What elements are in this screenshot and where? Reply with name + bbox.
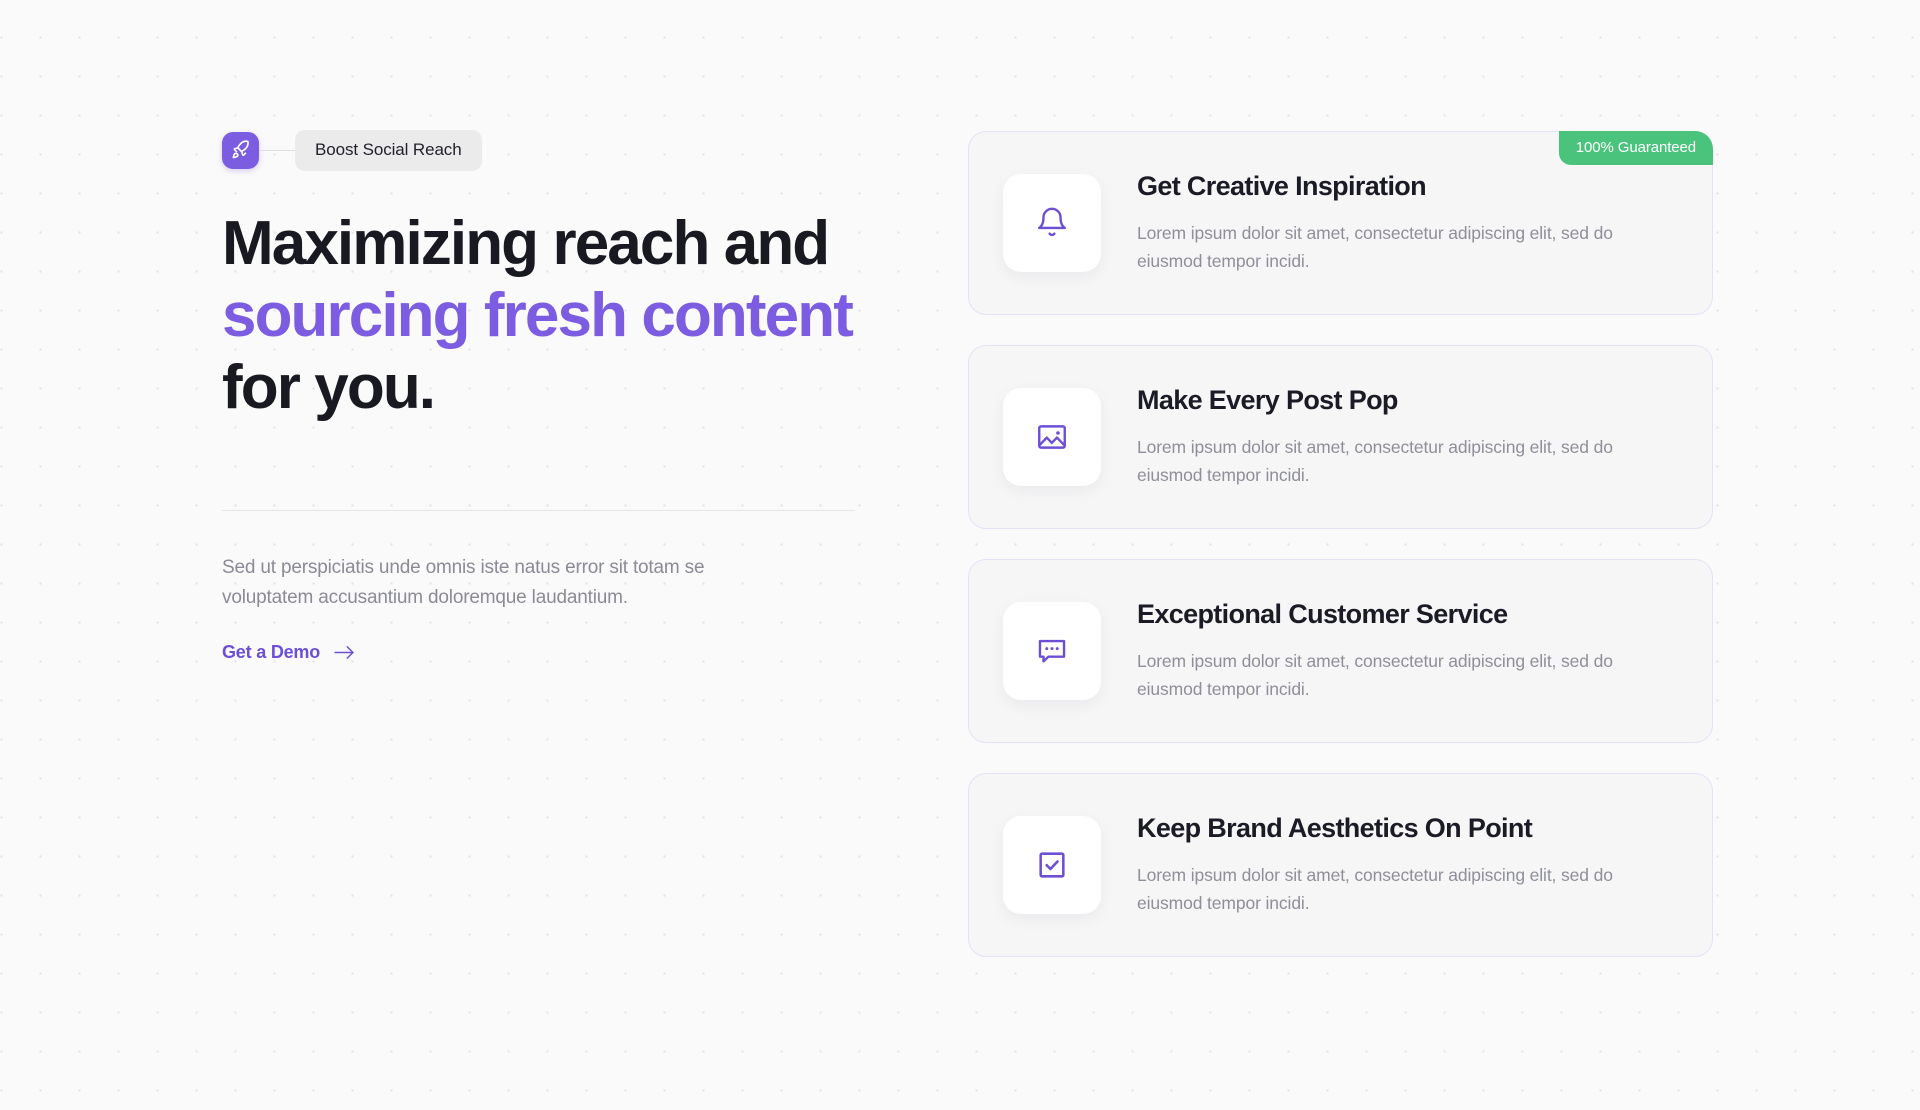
card-title: Get Creative Inspiration <box>1137 171 1678 202</box>
card-body: Get Creative Inspiration Lorem ipsum dol… <box>1137 171 1678 276</box>
card-body: Keep Brand Aesthetics On Point Lorem ips… <box>1137 813 1678 918</box>
landing-page: Boost Social Reach Maximizing reach and … <box>0 0 1920 1110</box>
hero-section: Boost Social Reach Maximizing reach and … <box>222 128 882 663</box>
card-title: Exceptional Customer Service <box>1137 599 1678 630</box>
card-description: Lorem ipsum dolor sit amet, consectetur … <box>1137 647 1677 704</box>
card-description: Lorem ipsum dolor sit amet, consectetur … <box>1137 433 1677 490</box>
chat-bubble-icon-tile <box>1003 602 1101 700</box>
card-title: Keep Brand Aesthetics On Point <box>1137 813 1678 844</box>
arrow-right-icon <box>334 645 355 660</box>
get-a-demo-link[interactable]: Get a Demo <box>222 642 355 663</box>
checkbox-check-icon-tile <box>1003 816 1101 914</box>
hero-support-text: Sed ut perspiciatis unde omnis iste natu… <box>222 553 742 615</box>
chat-bubble-icon <box>1035 634 1069 668</box>
rocket-icon-tile[interactable] <box>222 132 259 169</box>
feature-card-list: 100% Guaranteed Get Creative Inspiration… <box>968 131 1713 957</box>
headline-line-3: for you. <box>222 353 434 422</box>
status-badge: 100% Guaranteed <box>1559 131 1713 165</box>
card-description: Lorem ipsum dolor sit amet, consectetur … <box>1137 861 1677 918</box>
bell-icon-tile <box>1003 174 1101 272</box>
image-icon-tile <box>1003 388 1101 486</box>
get-a-demo-label: Get a Demo <box>222 642 320 663</box>
headline-line-1: Maximizing reach and <box>222 209 828 278</box>
eyebrow-label[interactable]: Boost Social Reach <box>295 130 482 171</box>
feature-card[interactable]: Keep Brand Aesthetics On Point Lorem ips… <box>968 773 1713 957</box>
eyebrow-badge: Boost Social Reach <box>222 128 882 172</box>
card-title: Make Every Post Pop <box>1137 385 1678 416</box>
feature-card[interactable]: Exceptional Customer Service Lorem ipsum… <box>968 559 1713 743</box>
feature-card[interactable]: 100% Guaranteed Get Creative Inspiration… <box>968 131 1713 315</box>
rocket-icon <box>230 140 251 161</box>
card-description: Lorem ipsum dolor sit amet, consectetur … <box>1137 219 1677 276</box>
headline-line-2-accent: sourcing fresh content <box>222 281 852 350</box>
card-body: Exceptional Customer Service Lorem ipsum… <box>1137 599 1678 704</box>
checkbox-check-icon <box>1035 848 1069 882</box>
bell-icon <box>1035 206 1069 240</box>
eyebrow-connector-line <box>259 150 295 151</box>
image-icon <box>1035 420 1069 454</box>
hero-divider <box>222 510 855 511</box>
page-title: Maximizing reach and sourcing fresh cont… <box>222 208 882 424</box>
card-body: Make Every Post Pop Lorem ipsum dolor si… <box>1137 385 1678 490</box>
feature-card[interactable]: Make Every Post Pop Lorem ipsum dolor si… <box>968 345 1713 529</box>
